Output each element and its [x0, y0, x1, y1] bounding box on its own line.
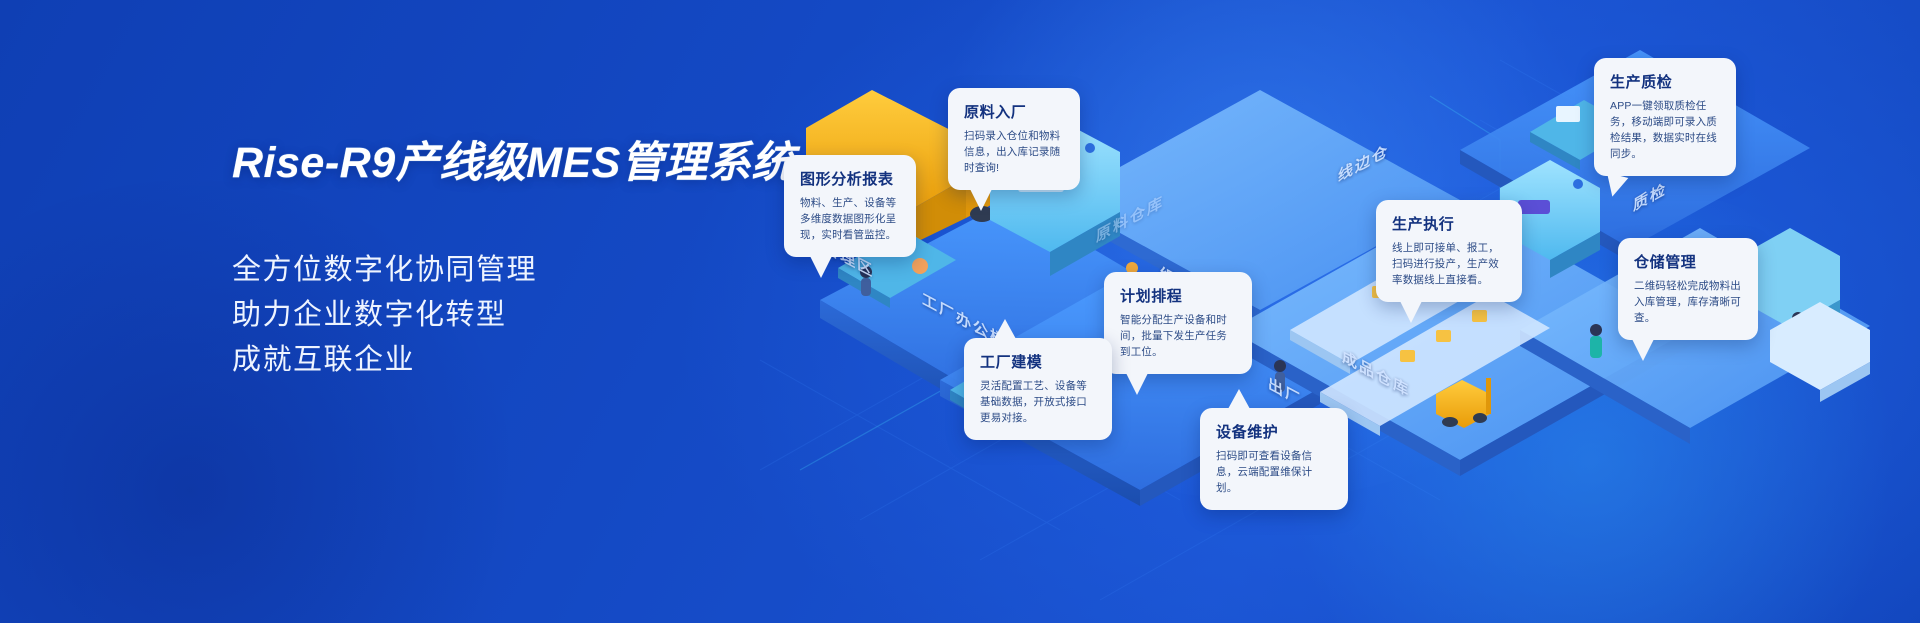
page-title: Rise-R9产线级MES管理系统 — [232, 128, 852, 190]
callout-body: 扫码录入仓位和物料信息，出入库记录随时查询! — [964, 128, 1064, 176]
callout-title: 原料入厂 — [964, 101, 1064, 122]
callout-warehouse-management[interactable]: 仓储管理 二维码轻松完成物料出入库管理，库存清晰可查。 — [1618, 238, 1758, 340]
callout-factory-modeling[interactable]: 工厂建模 灵活配置工艺、设备等基础数据，开放式接口更易对接。 — [964, 338, 1112, 440]
hero-subtitle: 全方位数字化协同管理 助力企业数字化转型 成就互联企业 — [232, 248, 852, 383]
callout-title: 设备维护 — [1216, 421, 1332, 442]
callout-production-quality[interactable]: 生产质检 APP一键领取质检任务，移动端即可录入质检结果，数据实时在线同步。 — [1594, 58, 1736, 176]
subtitle-line-3: 成就互联企业 — [232, 338, 852, 383]
callout-tail-icon — [1126, 373, 1148, 395]
callout-title: 仓储管理 — [1634, 251, 1742, 272]
callout-body: APP一键领取质检任务，移动端即可录入质检结果，数据实时在线同步。 — [1610, 98, 1720, 162]
callout-title: 计划排程 — [1120, 285, 1236, 306]
callout-body: 二维码轻松完成物料出入库管理，库存清晰可查。 — [1634, 278, 1742, 326]
callout-tail-icon — [810, 256, 832, 278]
callout-title: 生产质检 — [1610, 71, 1720, 92]
callout-planning-scheduling[interactable]: 计划排程 智能分配生产设备和时间，批量下发生产任务到工位。 — [1104, 272, 1252, 374]
mes-hero-banner: Rise-R9产线级MES管理系统 全方位数字化协同管理 助力企业数字化转型 成… — [0, 0, 1920, 623]
callout-body: 灵活配置工艺、设备等基础数据，开放式接口更易对接。 — [980, 378, 1096, 426]
callout-title: 工厂建模 — [980, 351, 1096, 372]
callout-body: 智能分配生产设备和时间，批量下发生产任务到工位。 — [1120, 312, 1236, 360]
callout-tail-icon — [1632, 339, 1654, 361]
callout-graphical-report[interactable]: 图形分析报表 物料、生产、设备等多维度数据图形化呈现，实时看管监控。 — [784, 155, 916, 257]
subtitle-line-2: 助力企业数字化转型 — [232, 293, 852, 338]
callout-production-execution[interactable]: 生产执行 线上即可接单、报工，扫码进行投产，生产效率数据线上直接看。 — [1376, 200, 1522, 302]
hero-copy: Rise-R9产线级MES管理系统 全方位数字化协同管理 助力企业数字化转型 成… — [232, 128, 852, 383]
callout-tail-icon — [1400, 301, 1422, 323]
callout-title: 图形分析报表 — [800, 168, 900, 189]
callout-tail-icon — [970, 189, 992, 211]
callout-tail-icon — [994, 319, 1016, 339]
callout-equipment-maintenance[interactable]: 设备维护 扫码即可查看设备信息，云端配置维保计划。 — [1200, 408, 1348, 510]
callout-title: 生产执行 — [1392, 213, 1506, 234]
subtitle-line-1: 全方位数字化协同管理 — [232, 248, 852, 293]
callout-material-intake[interactable]: 原料入厂 扫码录入仓位和物料信息，出入库记录随时查询! — [948, 88, 1080, 190]
callout-body: 扫码即可查看设备信息，云端配置维保计划。 — [1216, 448, 1332, 496]
callout-body: 物料、生产、设备等多维度数据图形化呈现，实时看管监控。 — [800, 195, 900, 243]
callout-body: 线上即可接单、报工，扫码进行投产，生产效率数据线上直接看。 — [1392, 240, 1506, 288]
callout-tail-icon — [1228, 389, 1250, 409]
